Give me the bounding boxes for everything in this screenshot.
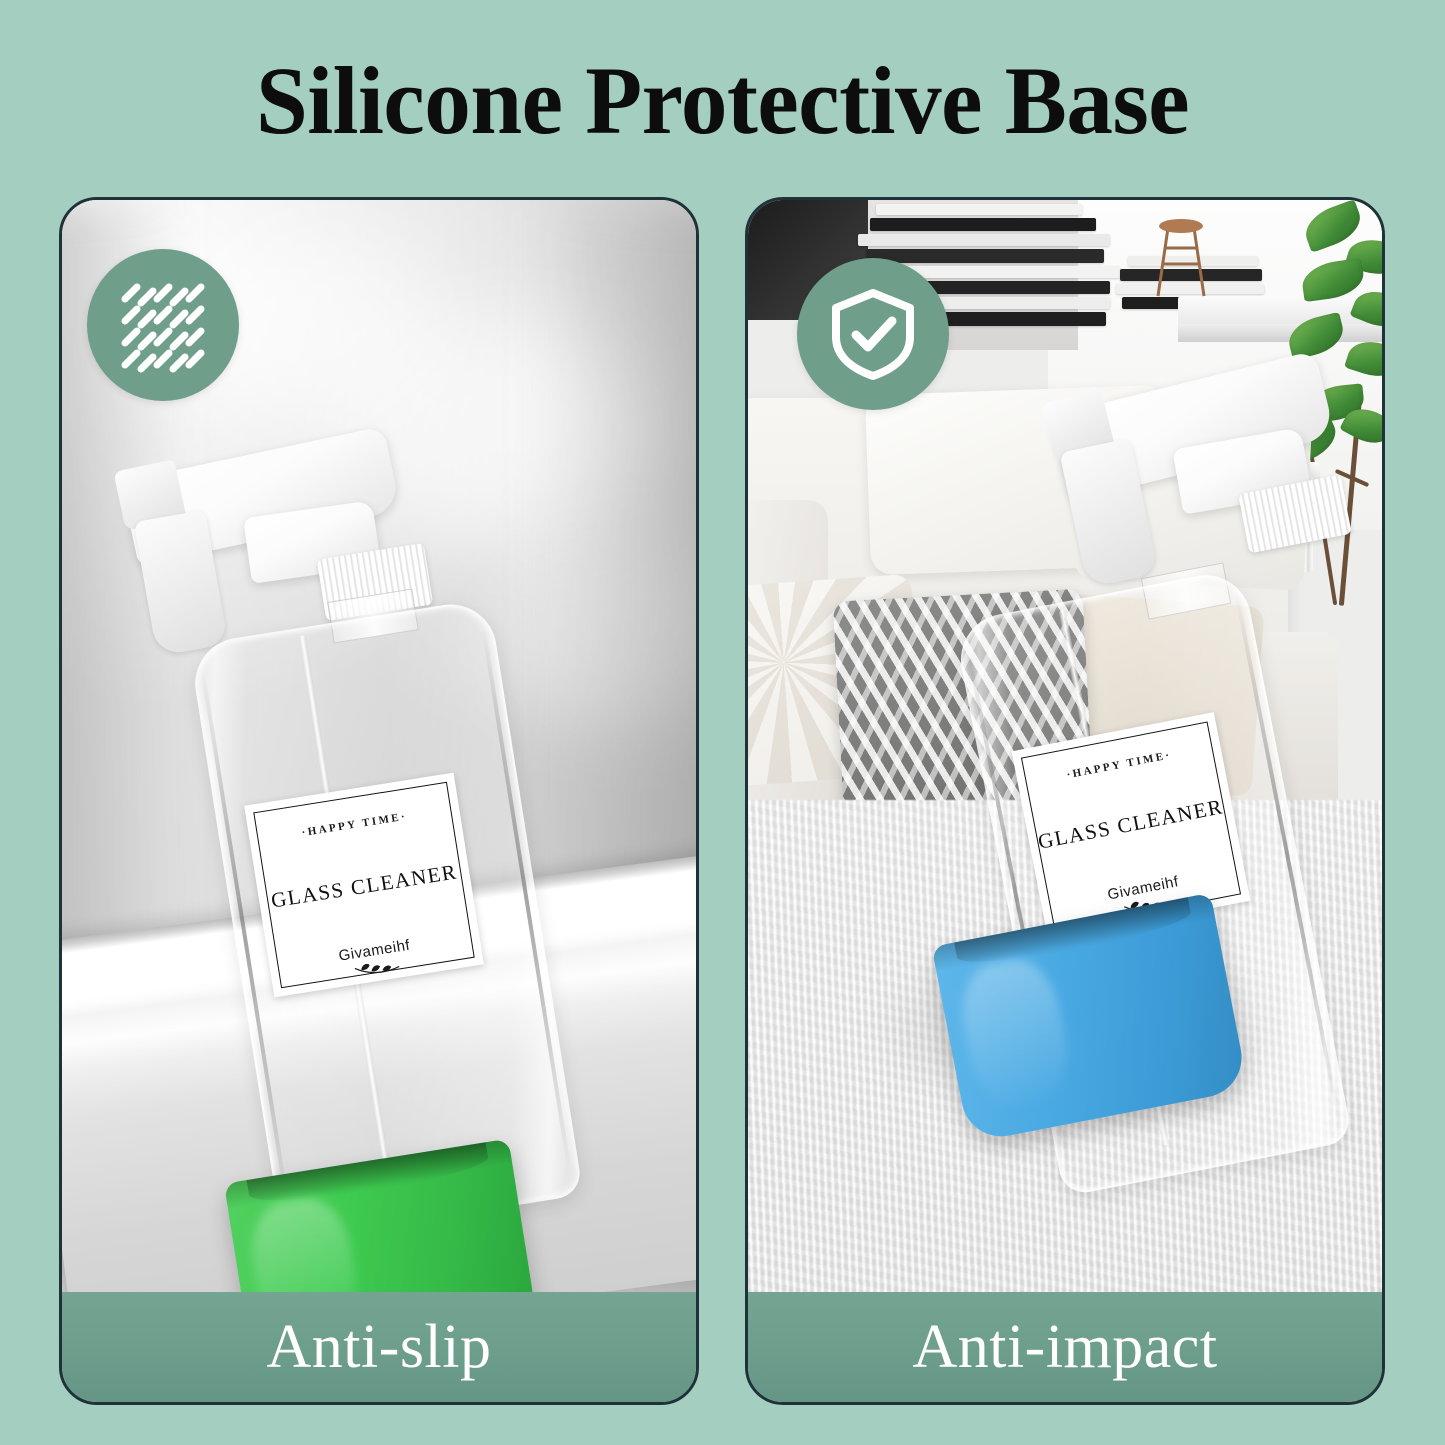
caption-label: Anti-slip [267,1316,492,1378]
caption-label: Anti-impact [912,1316,1217,1378]
shield-check-icon [824,285,922,383]
anti-impact-badge [797,258,949,410]
caption-bar-anti-slip: Anti-slip [62,1292,696,1402]
feature-panel-anti-slip: ·HAPPY TIME· GLASS CLEANER Givameihf [59,197,699,1405]
glass-edge [481,625,571,1171]
base-gloss [245,1192,363,1298]
caption-bar-anti-impact: Anti-impact [748,1292,1382,1402]
bottle-label: ·HAPPY TIME· GLASS CLEANER Givameihf [1012,712,1251,940]
anti-slip-badge [87,249,239,401]
trigger-sprayer-head [1043,366,1343,596]
anti-slip-texture-icon [111,273,215,377]
feature-panel-anti-impact: ·HAPPY TIME· GLASS CLEANER Givameihf [745,197,1385,1405]
glass-edge [1235,594,1341,1119]
page-title: Silicone Protective Base [22,46,1424,156]
base-gloss [954,953,1076,1113]
bottle-label: ·HAPPY TIME· GLASS CLEANER Givameihf [244,773,484,998]
infographic-canvas: Silicone Protective Base [0,0,1445,1445]
